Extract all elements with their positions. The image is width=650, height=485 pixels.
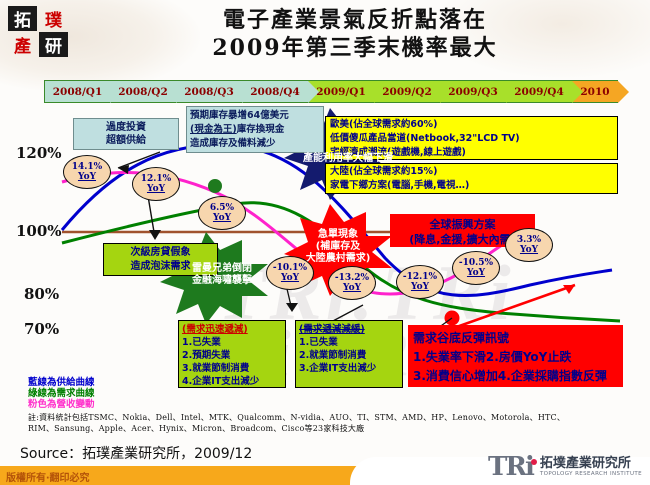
legend-revenue: 粉色為營收變動 [28, 399, 95, 410]
demand-box-rapid-header: (需求迅速遞減) [182, 323, 282, 336]
yoy-bubble-unit: YoY [520, 245, 538, 255]
footnote-line2: RIM、Sansung、Apple、Acer、Hynix、Micron、Broa… [28, 423, 618, 434]
timeline-label: 2008/Q2 [118, 86, 168, 98]
callout-inventory-line2: (現金為王)庫存換現金 [190, 123, 320, 137]
capacity-burst-text: 產能利用率大幅下滑 [303, 153, 393, 165]
yoy-bubble-unit: YoY [78, 172, 96, 182]
timeline-label: 2009/Q3 [448, 86, 498, 98]
yoy-bubble-2: 6.5%YoY [198, 196, 246, 230]
demand-box-rebound-line2: 3.消費信心增加4.企業採購指數反彈 [413, 367, 618, 386]
callout-overinvest-line1: 過度投資 [74, 121, 178, 134]
forecast-arrowhead [563, 285, 575, 294]
chart-legend: 藍線為供給曲線 綠線為需求曲線 粉色為營收變動 [28, 377, 95, 410]
timeline-chevron-icon [308, 81, 319, 103]
demand-box-slowing: (需求遞減減緩) 1.已失業 2.就業節制消費 3.企業IT支出減少 [295, 320, 403, 388]
tri-logo: 拓 璞 產 研 [8, 6, 70, 58]
slide-root: TRi:TRi TRi:TRi:TRi 拓 璞 產 研 電子產業景氣反折點落在 … [0, 0, 650, 485]
demand-box-rebound-header: 需求谷底反彈訊號 [413, 329, 618, 348]
lehman-burst-label: 雷曼兄弟倒閉 金融海嘯襲擊 [172, 258, 272, 292]
callout-inventory: 預期庫存暴增64億美元 (現金為王)庫存換現金 造成庫存及備料減少 [186, 106, 324, 153]
timeline-chevron-icon [176, 81, 187, 103]
legend-supply: 藍線為供給曲線 [28, 377, 95, 388]
demand-box-rebound-line1: 1.失業率下滑2.房價YoY止跌 [413, 348, 618, 367]
callout-inventory-line1: 預期庫存暴增64億美元 [190, 109, 320, 123]
timeline-label: 2009/Q4 [514, 86, 564, 98]
timeline-chevron-icon [242, 81, 253, 103]
capacity-burst-label: 產能利用率大幅下滑 [296, 148, 400, 170]
yoy-bubble-unit: YoY [213, 213, 231, 223]
axis-label-100: 100% [16, 222, 62, 240]
yoy-bubble-unit: YoY [343, 283, 361, 293]
arrow-overinvest [118, 152, 160, 168]
demand-box-rapid-item-3: 3.就業節制消費 [182, 362, 282, 375]
demand-box-slowing-item-1: 1.已失業 [299, 336, 399, 349]
yoy-bubble-value: -13.2% [335, 273, 369, 283]
yoy-bubble-unit: YoY [281, 273, 299, 283]
arrow-overinvest-head [118, 165, 129, 174]
timeline-label: 2008/Q1 [53, 86, 103, 98]
timeline-segment-2008-Q1[interactable]: 2008/Q1 [44, 80, 110, 103]
lehman-burst-line2: 金融海嘯襲擊 [192, 275, 252, 287]
demand-box-slowing-header: (需求遞減減緩) [299, 323, 399, 336]
axis-label-80: 80% [24, 285, 59, 303]
arrow-lehman-head [286, 303, 298, 312]
timeline-chevron-icon [440, 81, 451, 103]
timeline-label: 2008/Q4 [250, 86, 300, 98]
page-title-line1: 電子產業景氣反折點落在 [120, 6, 590, 34]
peak-marker-green [208, 179, 222, 193]
yoy-bubble-3: -10.1%YoY [266, 256, 314, 290]
yoy-bubble-value: -10.1% [273, 263, 307, 273]
axis-label-70: 70% [24, 320, 59, 338]
timeline-chevron-icon [374, 81, 385, 103]
demand-box-rapid-item-4: 4.企業IT支出減少 [182, 375, 282, 388]
yoy-bubble-value: 12.1% [141, 174, 171, 184]
timeline-chevron-icon [110, 81, 121, 103]
callout-stimulus-line1: 全球振興方案 [391, 217, 534, 232]
footnote-line1: 註:資料統計包括TSMC、Nokia、Dell、Intel、MTK、Qualco… [28, 412, 618, 423]
timeline-label: 2009/Q1 [316, 86, 366, 98]
yoy-bubble-value: -10.5% [459, 258, 493, 268]
demand-box-slowing-item-3: 3.企業IT支出減少 [299, 362, 399, 375]
page-title-line2: 2009年第三季末機率最大 [120, 34, 590, 62]
callout-inventory-emph: (現金為王) [190, 124, 237, 135]
yoy-bubble-4: -13.2%YoY [328, 266, 376, 300]
rush-burst-line3: 大陸農村需求) [306, 253, 371, 265]
source-text: Source：拓璞產業研究所，2009/12 [20, 443, 252, 463]
timeline-chevron-icon [572, 81, 583, 103]
demand-box-rebound: 需求谷底反彈訊號 1.失業率下滑2.房價YoY止跌 3.消費信心增加4.企業採購… [408, 325, 623, 387]
footer-brand: TRi 拓墣產業研究所 TOPOLOGY RESEARCH INSTITUTE [488, 452, 642, 482]
page-title: 電子產業景氣反折點落在 2009年第三季末機率最大 [120, 6, 590, 62]
brand-name-en: TOPOLOGY RESEARCH INSTITUTE [540, 471, 642, 477]
yoy-bubble-7: 3.3%YoY [505, 228, 553, 262]
logo-char-3: 產 [8, 32, 37, 57]
axis-label-120: 120% [16, 144, 62, 162]
yoy-bubble-0: 14.1%YoY [63, 155, 111, 189]
timeline-chevron-icon [618, 81, 629, 103]
yoy-bubble-value: 3.3% [517, 235, 541, 245]
arrow-subprime-head [149, 230, 161, 240]
yoy-bubble-unit: YoY [147, 184, 165, 194]
legend-demand: 綠線為需求曲線 [28, 388, 95, 399]
footnote: 註:資料統計包括TSMC、Nokia、Dell、Intel、MTK、Qualco… [28, 412, 618, 434]
demand-box-rapid-item-2: 2.預期失業 [182, 349, 282, 362]
yoy-bubble-value: -12.1% [403, 272, 437, 282]
footer-copyright: 版權所有‧翻印必究 [6, 469, 89, 484]
logo-char-2: 璞 [39, 6, 68, 31]
callout-inventory-line2b: 庫存換現金 [237, 124, 285, 135]
trough-marker-red [445, 311, 460, 326]
yoy-bubble-5: -12.1%YoY [396, 265, 444, 299]
callout-china-line2: 家電下鄉方案(電腦,手機,電視…) [330, 179, 613, 193]
brand-name-cn: 拓墣產業研究所 [540, 457, 642, 471]
forecast-line [448, 285, 575, 330]
timeline-label: 2009/Q2 [382, 86, 432, 98]
yoy-bubble-1: 12.1%YoY [132, 167, 180, 201]
yoy-bubble-value: 14.1% [72, 162, 102, 172]
lehman-burst-line1: 雷曼兄弟倒閉 [192, 263, 252, 275]
logo-char-1: 拓 [8, 6, 37, 31]
demand-box-rapid-item-1: 1.已失業 [182, 336, 282, 349]
callout-overinvest: 過度投資 超額供給 [73, 118, 179, 150]
demand-box-slowing-item-2: 2.就業節制消費 [299, 349, 399, 362]
brand-mark-text: TRi [488, 452, 533, 482]
logo-char-4: 研 [39, 32, 68, 57]
demand-box-rapid: (需求迅速遞減) 1.已失業 2.預期失業 3.就業節制消費 4.企業IT支出減… [178, 320, 286, 388]
timeline-chevron-icon [506, 81, 517, 103]
rush-burst-line2: (補庫存及 [316, 241, 361, 253]
yoy-bubble-6: -10.5%YoY [452, 251, 500, 285]
yoy-bubble-unit: YoY [467, 268, 485, 278]
callout-western-line2: 低價傻瓜產品當道(Netbook,32"LCD TV) [330, 132, 613, 146]
callout-overinvest-line2: 超額供給 [74, 134, 178, 147]
callout-western-line1: 歐美(佔全球需求約60%) [330, 118, 613, 132]
timeline-label: 2010 [580, 86, 609, 98]
timeline-label: 2008/Q3 [184, 86, 234, 98]
rush-burst-line1: 急單現象 [318, 229, 358, 241]
yoy-bubble-value: 6.5% [210, 203, 234, 213]
timeline-bar: 2008/Q12008/Q22008/Q32008/Q42009/Q12009/… [44, 80, 618, 103]
brand-dot-icon [531, 459, 537, 465]
yoy-bubble-unit: YoY [411, 282, 429, 292]
